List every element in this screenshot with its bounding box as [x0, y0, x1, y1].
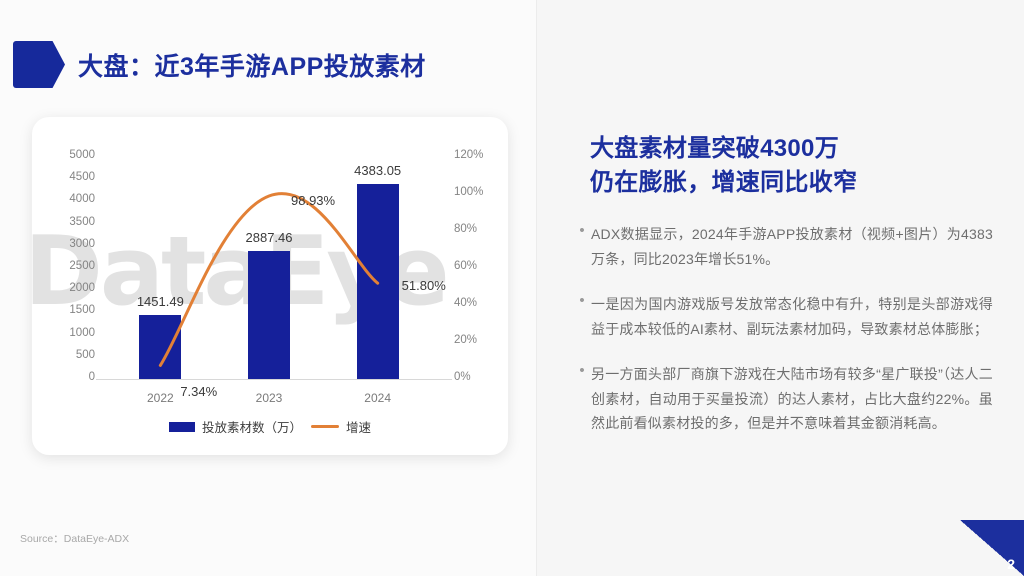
source-note: Source：DataEye-ADX	[20, 531, 129, 546]
bullet-dot-icon: •	[573, 362, 591, 437]
line-value-label: 7.34%	[180, 384, 217, 399]
legend-line-swatch-icon	[311, 425, 339, 428]
bullet-text: 一是因为国内游戏版号发放常态化稳中有升，特别是头部游戏得益于成本较低的AI素材、…	[591, 292, 993, 342]
bullet-text: 另一方面头部厂商旗下游戏在大陆市场有较多“星广联投”（达人二创素材，自动用于买量…	[591, 362, 993, 437]
legend-item-bar[interactable]: 投放素材数（万）	[169, 417, 302, 436]
page-number: 2	[1007, 556, 1015, 572]
line-value-label: 51.80%	[402, 278, 446, 293]
page-title: 大盘：近3年手游APP投放素材	[78, 47, 426, 83]
left-panel: 大盘：近3年手游APP投放素材 DataEye 5000450040003500…	[0, 0, 537, 576]
title-flag-shape	[13, 41, 65, 88]
heading-line-2: 仍在膨胀，增速同比收窄	[590, 166, 990, 200]
legend-item-line[interactable]: 增速	[311, 417, 371, 436]
bullet-dot-icon: •	[573, 292, 591, 342]
right-panel-heading: 大盘素材量突破4300万 仍在膨胀，增速同比收窄	[590, 132, 990, 200]
bullet-list: • ADX数据显示，2024年手游APP投放素材（视频+图片）为4383万条，同…	[573, 222, 993, 456]
growth-rate-line	[32, 117, 508, 407]
list-item: • 一是因为国内游戏版号发放常态化稳中有升，特别是头部游戏得益于成本较低的AI素…	[573, 292, 993, 342]
chart-plot-area: 5000450040003500300025002000150010005000…	[32, 117, 508, 407]
chart-legend: 投放素材数（万） 增速	[32, 417, 508, 436]
list-item: • 另一方面头部厂商旗下游戏在大陆市场有较多“星广联投”（达人二创素材，自动用于…	[573, 362, 993, 437]
slide-title-row: 大盘：近3年手游APP投放素材	[13, 41, 426, 88]
bullet-dot-icon: •	[573, 222, 591, 272]
line-value-label: 98.93%	[291, 193, 335, 208]
heading-line-1: 大盘素材量突破4300万	[590, 132, 990, 166]
legend-bar-label: 投放素材数（万）	[202, 417, 302, 436]
right-panel: 大盘素材量突破4300万 仍在膨胀，增速同比收窄 • ADX数据显示，2024年…	[537, 0, 1024, 576]
legend-bar-swatch-icon	[169, 422, 195, 432]
chart-card: DataEye 50004500400035003000250020001500…	[32, 117, 508, 455]
legend-line-label: 增速	[346, 417, 371, 436]
bullet-text: ADX数据显示，2024年手游APP投放素材（视频+图片）为4383万条，同比2…	[591, 222, 993, 272]
list-item: • ADX数据显示，2024年手游APP投放素材（视频+图片）为4383万条，同…	[573, 222, 993, 272]
